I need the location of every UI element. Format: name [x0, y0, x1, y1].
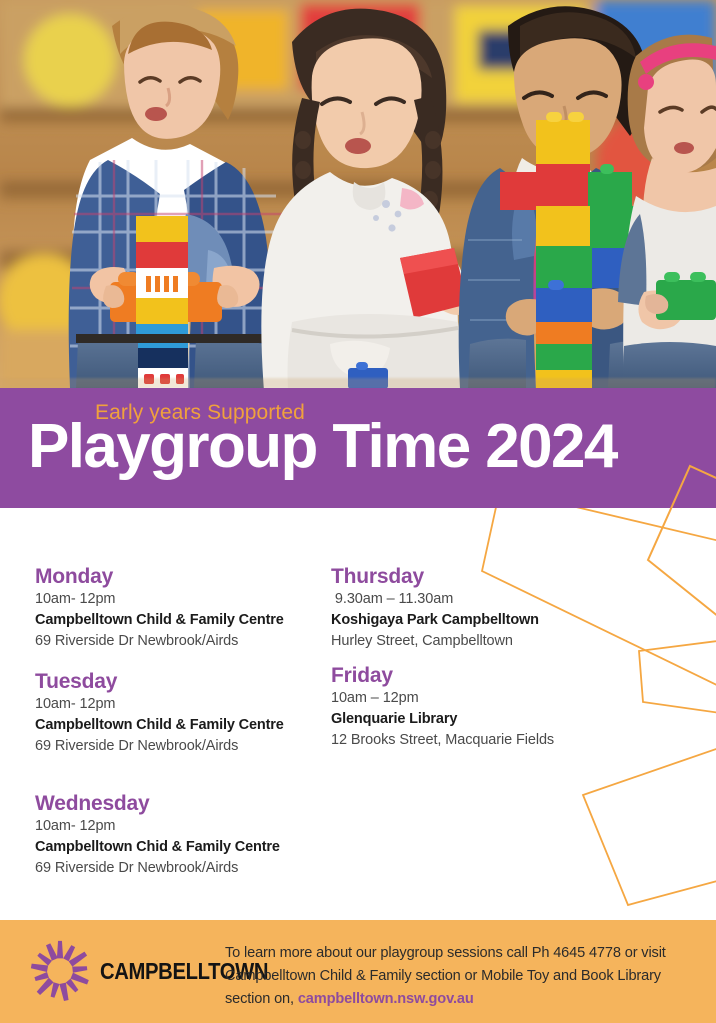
day-time: 9.30am – 11.30am: [331, 589, 539, 610]
footer-line-2: Campbelltown Child & Family section or M…: [225, 968, 661, 984]
day-address: Hurley Street, Campbelltown: [331, 631, 539, 652]
footer-line-1: To learn more about our playgroup sessio…: [225, 945, 666, 961]
schedule-entry-tuesday: Tuesday 10am- 12pm Campbelltown Child & …: [35, 669, 284, 757]
day-label: Monday: [35, 564, 284, 589]
title-banner: Early years Supported Playgroup Time 202…: [0, 388, 716, 508]
day-venue: Glenquarie Library: [331, 709, 554, 730]
schedule-entry-monday: Monday 10am- 12pm Campbelltown Child & F…: [35, 564, 284, 652]
footer-band: CAMPBELLTOWN To learn more about our pla…: [0, 920, 716, 1023]
footer-info-text: To learn more about our playgroup sessio…: [225, 942, 695, 1011]
day-venue: Campbelltown Chid & Family Centre: [35, 837, 280, 858]
campbelltown-sunburst-icon: [24, 936, 96, 1006]
day-label: Wednesday: [35, 791, 280, 816]
day-venue: Campbelltown Child & Family Centre: [35, 715, 284, 736]
day-time: 10am- 12pm: [35, 694, 284, 715]
page-title: Playgroup Time 2024: [28, 414, 617, 479]
hero-photo: [0, 0, 716, 389]
day-address: 69 Riverside Dr Newbrook/Airds: [35, 736, 284, 757]
day-label: Thursday: [331, 564, 539, 589]
day-venue: Koshigaya Park Campbelltown: [331, 610, 539, 631]
day-venue: Campbelltown Child & Family Centre: [35, 610, 284, 631]
schedule-entry-thursday: Thursday 9.30am – 11.30am Koshigaya Park…: [331, 564, 539, 652]
day-label: Tuesday: [35, 669, 284, 694]
playgroup-poster: Early years Supported Playgroup Time 202…: [0, 0, 716, 1023]
schedule-section: Monday 10am- 12pm Campbelltown Child & F…: [0, 508, 716, 920]
website-url-link[interactable]: campbelltown.nsw.gov.au: [298, 991, 474, 1007]
day-address: 69 Riverside Dr Newbrook/Airds: [35, 858, 280, 879]
day-time: 10am – 12pm: [331, 688, 554, 709]
day-address: 12 Brooks Street, Macquarie Fields: [331, 730, 554, 751]
day-label: Friday: [331, 663, 554, 688]
day-time: 10am- 12pm: [35, 816, 280, 837]
schedule-entry-wednesday: Wednesday 10am- 12pm Campbelltown Chid &…: [35, 791, 280, 879]
children-playing-blocks-photo: [0, 0, 716, 389]
schedule-entry-friday: Friday 10am – 12pm Glenquarie Library 12…: [331, 663, 554, 751]
footer-line-3-prefix: section on,: [225, 991, 298, 1007]
day-address: 69 Riverside Dr Newbrook/Airds: [35, 631, 284, 652]
campbelltown-logo: CAMPBELLTOWN: [24, 936, 214, 1006]
day-time: 10am- 12pm: [35, 589, 284, 610]
